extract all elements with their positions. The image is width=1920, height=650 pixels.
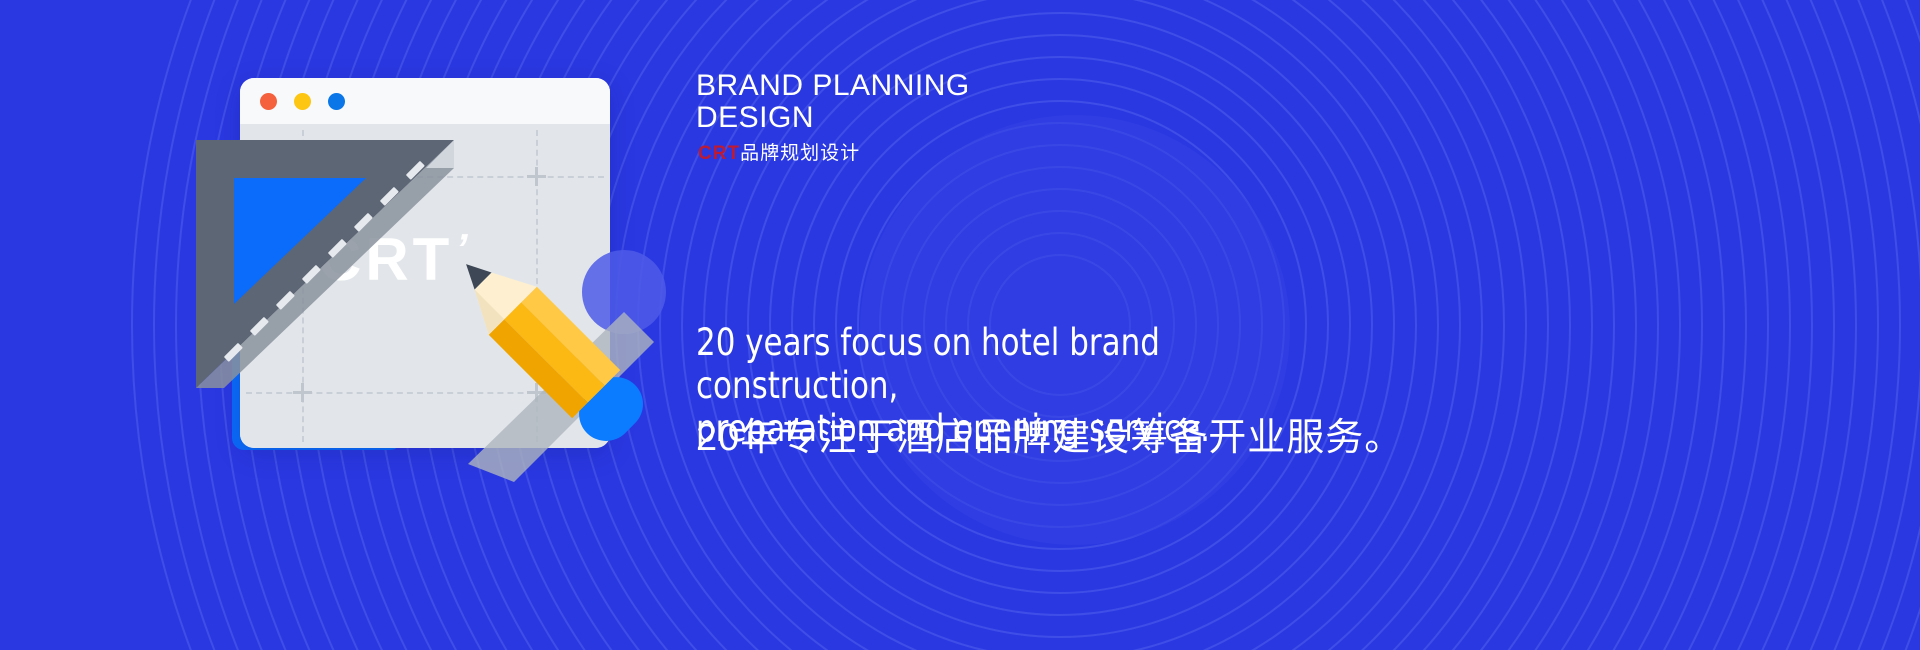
eyebrow-line-1: BRAND PLANNING	[696, 70, 1336, 102]
brand-banner: CRT’	[0, 0, 1920, 650]
eyebrow-line-2: DESIGN	[696, 102, 1336, 134]
eyebrow-heading: BRAND PLANNING DESIGN	[696, 70, 1336, 134]
copy-block: BRAND PLANNING DESIGN CRT品牌规划设计 20 years…	[696, 0, 1846, 650]
pencil-icon	[428, 226, 688, 486]
guide-crosshair	[527, 167, 546, 186]
tagline-chinese: 20年专注于酒店品牌建设筹备开业服务。	[696, 406, 1403, 461]
sub-brand-label: CRT	[698, 143, 740, 164]
brand-design-illustration: CRT’	[190, 78, 690, 473]
sub-eyebrow: CRT品牌规划设计	[698, 138, 860, 165]
maximize-dot[interactable]	[328, 93, 345, 110]
close-dot[interactable]	[260, 93, 277, 110]
window-titlebar	[240, 78, 610, 124]
sub-heading-cn: 品牌规划设计	[740, 143, 860, 164]
triangle-ruler-icon	[190, 134, 460, 394]
minimize-dot[interactable]	[294, 93, 311, 110]
